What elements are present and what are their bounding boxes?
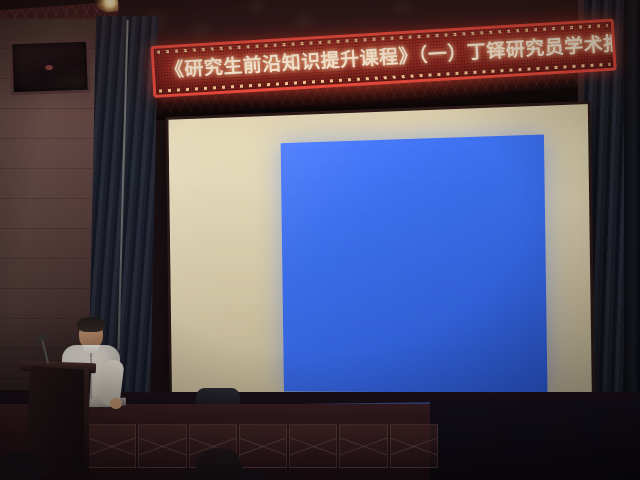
podium-side-edge [84,368,89,476]
speaker-hair [77,317,105,332]
projection-screen [168,104,592,422]
projection-booth-window-icon [9,39,91,96]
screen-sheen-overlay [168,104,592,422]
stage-decorative-panels [88,424,438,468]
lecture-hall-photo: 《研究生前沿知识提升课程》（一）丁铎研究员学术报告 [0,0,640,480]
stage-panel [289,424,337,468]
stage-panel [339,424,387,468]
stage-panel [88,424,136,468]
speaker-hand [110,398,122,409]
booth-indicator-light [45,65,53,70]
stage-panel [239,424,287,468]
stage-panel [390,424,438,468]
stage-front-wall-right [430,400,640,480]
stage-panel [138,424,186,468]
microphone-head [38,334,45,341]
audience-head [196,448,242,480]
